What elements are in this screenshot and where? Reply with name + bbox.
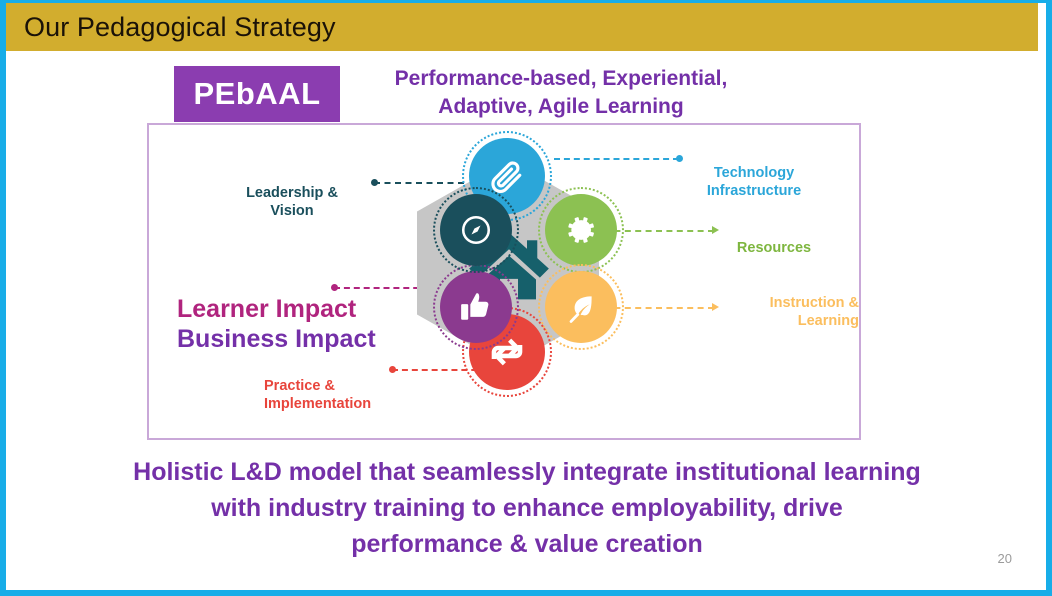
node-resources[interactable] [545, 194, 617, 266]
caption-block: Holistic L&D model that seamlessly integ… [62, 455, 992, 562]
paperclip-icon [489, 158, 525, 194]
connector-dot-impact [331, 284, 338, 291]
label-learner-impact: Learner Impact [177, 295, 356, 325]
slide-header-bar: Our Pedagogical Strategy [6, 3, 1038, 51]
subtitle-line-1: Performance-based, Experiential, [361, 65, 761, 93]
connector-arrow-resources [712, 226, 719, 234]
subtitle-line-2: Adaptive, Agile Learning [361, 93, 761, 121]
node-leadership[interactable] [440, 194, 512, 266]
pebaal-logo-badge: PEbAAL [174, 66, 340, 122]
connector-dot-practice [389, 366, 396, 373]
label-practice-line-1: Practice & [264, 378, 439, 396]
label-practice-line-2: Implementation [264, 396, 439, 414]
connector-technology [554, 158, 679, 160]
compass-icon [459, 213, 493, 247]
label-instruction-line-1: Instruction & [694, 295, 859, 313]
node-instruction[interactable] [545, 271, 617, 343]
diagram-panel: Leadership & Vision Technology Infrastru… [147, 123, 861, 440]
diagram-stage: Leadership & Vision Technology Infrastru… [149, 125, 859, 438]
label-business-impact: Business Impact [177, 325, 376, 355]
thumbs-up-icon [459, 290, 493, 324]
label-instruction-line-2: Learning [694, 313, 859, 331]
label-technology: Technology Infrastructure [669, 165, 839, 200]
label-leadership-line-1: Leadership & [217, 185, 367, 203]
caption-line-3: performance & value creation [62, 527, 992, 563]
label-leadership-line-2: Vision [217, 203, 367, 221]
slide-canvas: Our Pedagogical Strategy PEbAAL Performa… [0, 0, 1052, 596]
caption-line-2: with industry training to enhance employ… [62, 491, 992, 527]
label-resources-line-1: Resources [699, 240, 849, 258]
caption-line-1: Holistic L&D model that seamlessly integ… [62, 455, 992, 491]
connector-leadership [374, 182, 464, 184]
page-title: Our Pedagogical Strategy [24, 12, 336, 43]
label-instruction: Instruction & Learning [694, 295, 859, 330]
pebaal-logo-text: PEbAAL [194, 76, 321, 112]
subtitle-block: Performance-based, Experiential, Adaptiv… [361, 65, 761, 121]
slide-number: 20 [998, 551, 1012, 566]
label-leadership: Leadership & Vision [217, 185, 367, 220]
connector-dot-technology [676, 155, 683, 162]
label-practice: Practice & Implementation [264, 378, 439, 413]
connector-dot-leadership [371, 179, 378, 186]
node-impact[interactable] [440, 271, 512, 343]
label-technology-line-1: Technology [669, 165, 839, 183]
gear-icon [564, 213, 598, 247]
refresh-icon [489, 334, 525, 370]
label-resources: Resources [699, 240, 849, 258]
connector-resources [604, 230, 714, 232]
leaf-icon [564, 290, 598, 324]
label-technology-line-2: Infrastructure [669, 183, 839, 201]
